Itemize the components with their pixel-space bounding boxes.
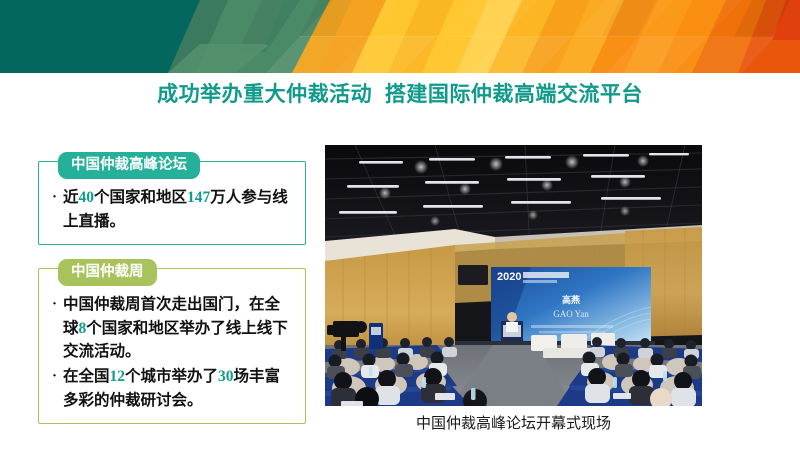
info-box-tab-label: 中国仲裁周 bbox=[58, 259, 157, 286]
bullet-text: 在全国12个城市举办了30场丰富多彩的仲裁研讨会。 bbox=[63, 365, 294, 412]
info-box-tab-label: 中国仲裁高峰论坛 bbox=[58, 152, 200, 179]
info-box-body: · 近40个国家和地区147万人参与线上直播。 bbox=[38, 179, 306, 245]
svg-text:2020: 2020 bbox=[497, 271, 521, 283]
bullet-text: 中国仲裁周首次走出国门，在全球8个国家和地区举办了线上线下交流活动。 bbox=[63, 293, 294, 364]
bullet-text: 近40个国家和地区147万人参与线上直播。 bbox=[63, 186, 294, 233]
header-banner bbox=[0, 0, 800, 73]
banner-pattern bbox=[0, 0, 800, 73]
info-box-body: · 中国仲裁周首次走出国门，在全球8个国家和地区举办了线上线下交流活动。 · 在… bbox=[38, 286, 306, 424]
conference-hall-photo: 2020 高燕 GAO Yan bbox=[325, 145, 702, 406]
bullet-dot-icon: · bbox=[52, 365, 63, 388]
svg-text:GAO Yan: GAO Yan bbox=[553, 309, 589, 319]
bullet-dot-icon: · bbox=[52, 186, 63, 209]
page-title: 成功举办重大仲裁活动 搭建国际仲裁高端交流平台 bbox=[157, 78, 643, 108]
list-item: · 中国仲裁周首次走出国门，在全球8个国家和地区举办了线上线下交流活动。 bbox=[52, 293, 294, 364]
slide-title-row: 成功举办重大仲裁活动 搭建国际仲裁高端交流平台 bbox=[0, 76, 800, 110]
photo-caption: 中国仲裁高峰论坛开幕式现场 bbox=[325, 412, 702, 433]
info-box-arbitration-week: 中国仲裁周 · 中国仲裁周首次走出国门，在全球8个国家和地区举办了线上线下交流活… bbox=[38, 259, 306, 424]
left-content-column: 中国仲裁高峰论坛 · 近40个国家和地区147万人参与线上直播。 中国仲裁周 ·… bbox=[38, 152, 306, 438]
bullet-dot-icon: · bbox=[52, 293, 63, 316]
list-item: · 近40个国家和地区147万人参与线上直播。 bbox=[52, 186, 294, 233]
list-item: · 在全国12个城市举办了30场丰富多彩的仲裁研讨会。 bbox=[52, 365, 294, 412]
photo-illustration: 2020 高燕 GAO Yan bbox=[325, 145, 702, 406]
info-box-summit-forum: 中国仲裁高峰论坛 · 近40个国家和地区147万人参与线上直播。 bbox=[38, 152, 306, 245]
svg-text:高燕: 高燕 bbox=[562, 294, 580, 305]
